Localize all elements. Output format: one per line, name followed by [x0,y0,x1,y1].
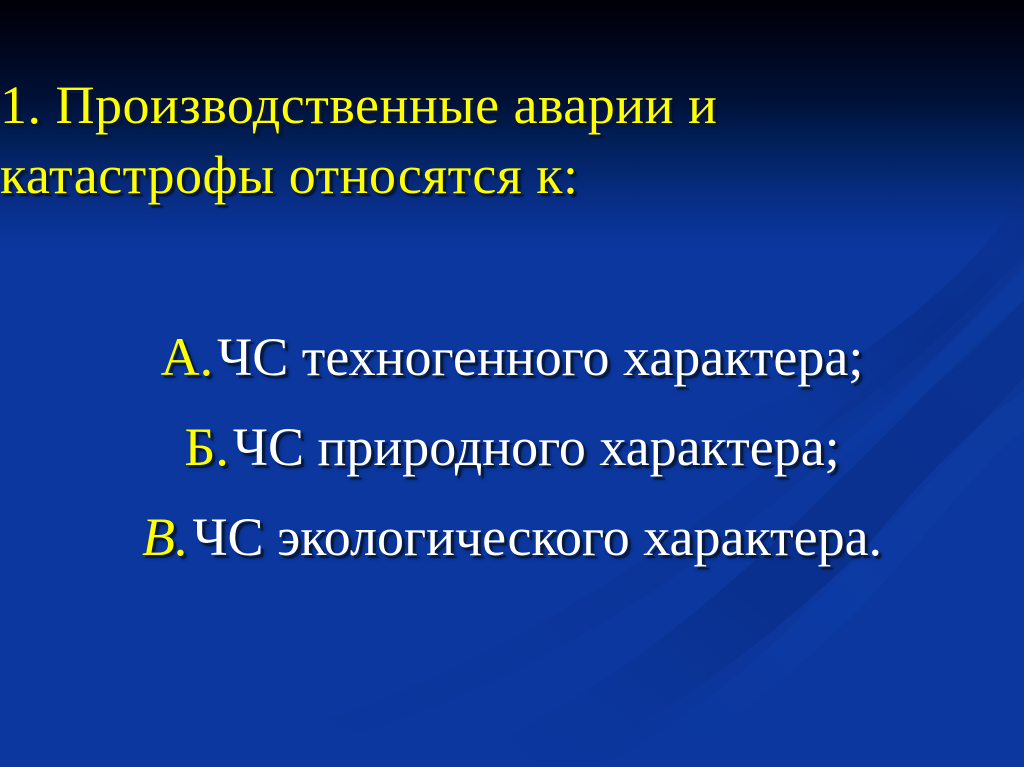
answer-option-b[interactable]: Б. ЧС природного характера; [0,416,1024,506]
answer-option-a-letter: А. [161,327,214,387]
answer-option-v-text: ЧС экологического характера. [192,507,882,567]
answer-option-v-letter: В. [142,507,189,567]
answer-option-a[interactable]: А. ЧС техногенного характера; [0,326,1024,416]
answer-option-b-letter: Б. [184,417,229,477]
answer-option-b-text: ЧС природного характера; [233,417,840,477]
title-line-1: 1. Производственные аварии и [0,78,540,132]
answer-options-list: А. ЧС техногенного характера; Б. ЧС прир… [0,326,1024,596]
slide-title: 1. Производственные аварии и катастрофы … [0,78,540,202]
answer-option-v[interactable]: В. ЧС экологического характера. [0,506,1024,596]
title-line-2: катастрофы относятся к: [0,148,540,202]
presentation-slide: 1. Производственные аварии и катастрофы … [0,0,1024,767]
answer-option-a-text: ЧС техногенного характера; [217,327,863,387]
